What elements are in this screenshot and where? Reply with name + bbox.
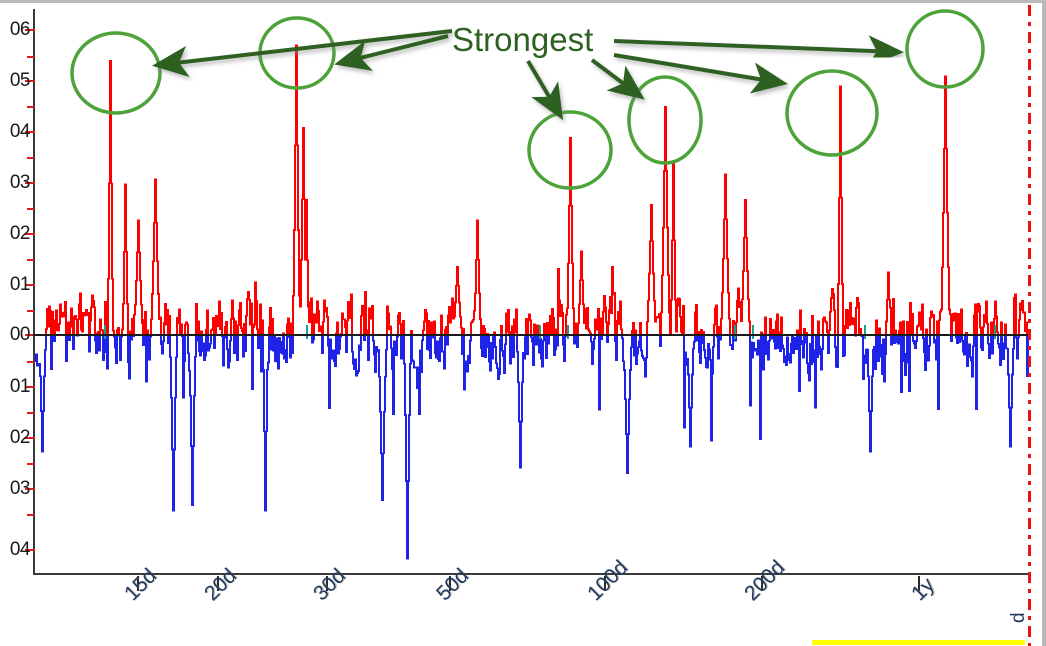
series-segment [880,334,886,382]
series-segment [502,334,506,373]
series-segment [717,334,719,359]
series-segment [202,334,206,360]
series-segment [923,334,926,370]
series-segment [287,318,289,334]
series-segment [617,302,622,334]
series-segment [151,179,161,334]
series-segment [225,322,227,334]
series-segment [146,334,147,382]
series-segment [998,334,1001,365]
series-segment [545,334,547,358]
series-segment [1019,301,1027,334]
series-segment [119,334,122,360]
series-segment [235,321,236,334]
series-segment [829,289,835,334]
y-axis-label: 01 [0,274,30,296]
series-segment [128,334,130,379]
series-segment [578,251,591,334]
series-segment [243,334,244,357]
series-segment [234,334,235,353]
series-segment [35,334,46,452]
series-segment [1016,334,1019,359]
series-segment [170,334,177,511]
series-segment [199,334,201,356]
series-segment [599,334,600,410]
series-segment [369,306,373,334]
series-segment [699,334,701,363]
y-axis-label: 05 [0,70,30,92]
series-segment [253,282,258,334]
series-segment [876,320,877,334]
series-segment [517,334,526,468]
series-segment [640,323,641,334]
series-segment [1005,324,1006,334]
x-axis-label: 1y [907,573,940,606]
series-segment [103,334,104,360]
series-segment [641,334,647,377]
series-segment [246,292,252,334]
series-segment [428,321,429,334]
series-segment [778,334,779,348]
series-segment [89,334,90,352]
series-segment [765,317,766,334]
series-segment [216,301,222,334]
series-segment [429,334,431,358]
series-segment [261,334,262,372]
series-segment [1002,334,1005,359]
corner-d-glyph: d [1008,612,1030,623]
series-segment [114,334,117,363]
series-segment [404,334,411,559]
series-segment [750,334,761,439]
series-segment [352,334,361,375]
series-segment [927,334,930,361]
series-segment [361,306,364,334]
series-segment [861,334,876,452]
series-segment [547,323,548,334]
series-segment [346,334,347,352]
series-segment [66,334,68,361]
series-segment [323,300,328,334]
y-axis-label: 06 [0,19,30,41]
series-segment [632,323,634,334]
series-segment [258,334,259,348]
series-segment [441,315,442,334]
series-segment [513,334,514,357]
series-segment [68,323,69,334]
series-segment [977,304,981,334]
series-segment [398,313,401,334]
series-segment [289,334,291,358]
series-segment [937,321,938,334]
series-segment [647,205,660,334]
series-segment [835,334,838,367]
series-segment [412,334,423,414]
series-segment [550,309,554,334]
series-segment [838,86,843,334]
series-segment [967,334,974,377]
series-segment [164,304,168,334]
series-segment [930,311,934,334]
series-segment [856,298,859,334]
series-segment [483,326,485,334]
series-segment [528,314,531,334]
series-segment [736,200,750,334]
series-segment [554,334,556,355]
series-segment [431,322,432,334]
series-segment [99,334,100,351]
series-segment [252,334,253,389]
series-segment [188,334,196,505]
series-segment [807,334,812,381]
series-segment [886,272,891,334]
series-segment [271,334,272,350]
series-segment [531,334,534,365]
series-segment [52,312,54,334]
series-segment [100,319,103,334]
series-segment [314,302,322,334]
series-segment [991,322,992,334]
y-axis-label: 02 [0,223,30,245]
series-segment [527,334,528,354]
series-segment [70,308,73,334]
series-segment [719,327,720,334]
y-axis-label: 03 [0,172,30,194]
series-segment [144,312,146,334]
series-segment [782,334,797,365]
series-segment [236,334,238,360]
series-segment [615,334,617,360]
series-segment [106,334,108,369]
series-segment [511,326,513,334]
series-segment [843,334,845,356]
series-segment [347,294,352,334]
series-segment [291,323,292,334]
series-segment [903,321,904,334]
series-segment [958,314,959,334]
series-segment [813,334,818,408]
series-segment [510,334,511,364]
series-segment [269,308,271,334]
series-segment [939,76,951,334]
series-segment [462,334,463,354]
series-segment [214,334,216,348]
series-segment [534,324,535,334]
series-segment [196,304,197,334]
chart-screenshot: 06 05 04 03 02 01 00 01 02 03 04 [0,0,1046,646]
series-segment [762,334,765,370]
y-axis-label: 01 [0,376,30,398]
series-segment [231,300,234,334]
series-segment [328,334,336,408]
series-segment [1014,295,1016,334]
series-segment [181,324,182,334]
series-segment [576,323,577,334]
y-axis-label: 04 [0,539,30,561]
series-segment [904,334,907,375]
series-segment [338,334,341,354]
series-segment [122,184,128,334]
series-segment [962,334,966,355]
series-segment [501,326,502,334]
series-segment [983,301,988,334]
series-segment [148,334,151,360]
series-segment [514,309,517,334]
strongest-annotation-label: Strongest [452,21,593,59]
series-segment [78,294,89,334]
series-segment [46,306,51,334]
series-segment [819,334,823,370]
series-segment [976,334,977,409]
series-segment [781,317,782,334]
series-segment [182,334,185,398]
series-segment [901,334,903,392]
series-segment [401,334,403,358]
series-segment [177,309,180,334]
series-segment [818,321,819,334]
series-segment [134,221,143,334]
series-segment [960,309,962,334]
series-segment [780,334,781,351]
series-segment [952,313,956,334]
series-segment [909,334,910,391]
series-segment [774,334,776,349]
y-axis-label: 00 [0,324,30,346]
series-segment [391,334,398,414]
series-segment [464,334,471,390]
series-segment [704,334,714,441]
series-segment [877,334,879,361]
series-segment [801,334,804,358]
series-segment [448,267,462,334]
series-segment [934,334,937,360]
series-segment [51,334,52,369]
series-segment [671,164,684,334]
series-segment [526,319,527,334]
series-segment [427,334,428,349]
series-segment [981,334,983,350]
series-segment [403,321,404,334]
series-segment [55,302,66,334]
series-segment [828,334,829,353]
series-segment [262,320,263,334]
series-segment [161,334,164,354]
series-segment [776,314,778,334]
time-series-trace [35,9,1029,575]
series-segment [917,304,923,334]
series-segment [812,316,813,334]
series-segment [211,318,214,334]
series-segment [800,310,801,334]
series-segment [544,324,545,334]
y-axis-label: 02 [0,427,30,449]
series-segment [471,221,481,334]
series-segment [445,327,447,334]
series-segment [273,334,283,369]
series-segment [208,334,211,350]
series-segment [622,334,632,473]
series-segment [206,310,208,334]
series-segment [293,45,312,334]
series-segment [938,334,939,409]
series-segment [913,334,917,348]
series-segment [132,319,133,334]
series-segment [90,295,95,334]
series-segment [992,334,994,354]
series-segment [636,334,640,364]
series-segment [272,319,273,334]
y-axis-label: 03 [0,478,30,500]
series-segment [603,296,607,334]
series-segment [185,323,188,334]
series-segment [238,303,243,334]
series-segment [442,334,445,369]
y-axis-label: 04 [0,121,30,143]
series-segment [336,322,338,334]
series-segment [284,334,287,362]
series-segment [770,319,772,334]
red-dashdot-marker-line [1028,5,1031,646]
series-segment [907,322,909,334]
series-segment [495,334,501,379]
series-segment [387,307,391,334]
series-segment [227,334,231,368]
series-segment [169,316,170,334]
series-segment [608,267,615,334]
series-segment [595,309,599,334]
series-segment [244,324,245,334]
series-segment [485,334,487,357]
series-segment [537,325,539,334]
series-segment [506,310,510,334]
series-segment [292,334,293,353]
series-segment [974,304,976,334]
series-segment [1006,334,1014,446]
series-segment [910,303,913,334]
series-segment [1001,322,1002,334]
series-segment [198,321,199,334]
series-segment [721,174,730,334]
series-segment [566,138,574,334]
series-segment [695,305,697,334]
series-segment [365,292,367,334]
zero-baseline [33,334,1029,336]
series-segment [373,334,387,500]
series-segment [661,107,670,334]
series-segment [988,334,991,358]
series-segment [823,317,828,334]
series-segment [108,61,114,334]
series-segment [558,269,563,334]
series-segment [435,334,441,361]
series-plot-area [35,9,1029,575]
series-segment [892,299,894,334]
series-segment [259,305,261,334]
series-segment [714,305,717,334]
series-segment [95,334,97,353]
series-segment [263,334,269,511]
series-segment [845,303,855,334]
series-segment [341,313,346,334]
series-segment [74,316,77,334]
series-segment [423,310,427,334]
series-segment [367,334,369,360]
series-segment [563,334,566,361]
series-segment [73,334,74,349]
series-segment [899,322,901,334]
series-segment [766,334,770,360]
series-segment [600,318,601,334]
series-segment [634,334,635,356]
series-segment [730,334,733,349]
series-segment [798,334,800,391]
series-segment [322,334,323,353]
series-segment [591,334,595,364]
series-segment [488,334,494,371]
series-segment [433,321,435,334]
series-segment [245,334,246,351]
series-segment [481,334,483,356]
series-segment [222,334,225,366]
series-segment [684,334,695,446]
yellow-highlight-bar [812,640,1025,645]
